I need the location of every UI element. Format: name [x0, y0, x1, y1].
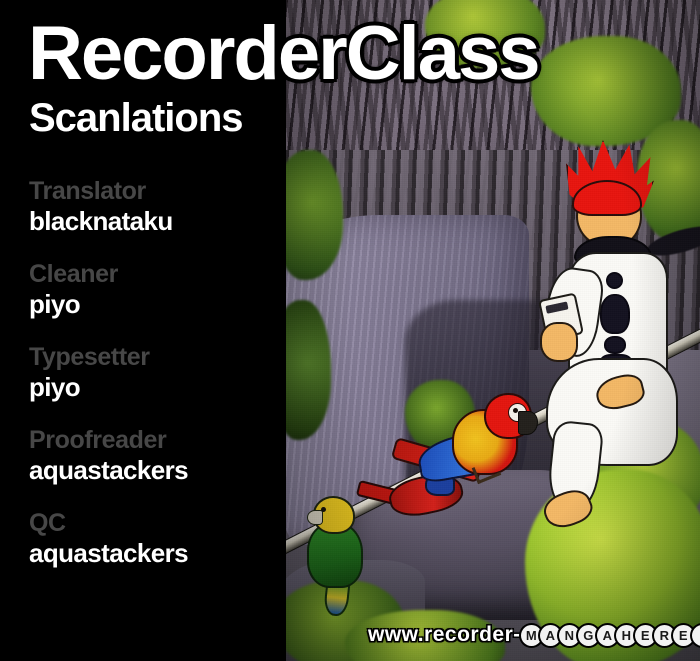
outfit-button [604, 336, 626, 354]
watermark-gear-letter: E [635, 625, 656, 646]
credit-entry: Translator blacknataku [29, 176, 279, 237]
watermark-gear-letter: E [673, 625, 694, 646]
credits-page: RecorderClass Scanlations Translator bla… [0, 0, 700, 661]
credits-list: Translator blacknataku Cleaner piyo Type… [29, 176, 279, 591]
character-hand [540, 322, 578, 362]
cover-artwork [285, 0, 700, 661]
watermark-gear-letter: M [521, 625, 542, 646]
character [528, 140, 700, 540]
watermark: www.recorder- MANGAHERE.COM [368, 622, 700, 648]
credit-role: QC [29, 508, 279, 538]
credit-role: Translator [29, 176, 279, 206]
watermark-url: www.recorder- [368, 623, 521, 647]
credit-entry: Typesetter piyo [29, 342, 279, 403]
outfit-button [600, 294, 630, 334]
watermark-gear-letter: A [597, 625, 618, 646]
credit-role: Proofreader [29, 425, 279, 455]
watermark-gear-letter: A [540, 625, 561, 646]
page-subtitle: Scanlations [29, 96, 243, 140]
credit-entry: Proofreader aquastackers [29, 425, 279, 486]
page-title: RecorderClass [28, 10, 700, 98]
watermark-gear-letter: . [692, 625, 700, 646]
outfit-button [606, 272, 623, 289]
green-parrot-eye [321, 507, 326, 512]
watermark-gear-letter: H [616, 625, 637, 646]
green-parrot-beak [307, 510, 323, 525]
green-parrot [299, 496, 375, 610]
credit-entry: QC aquastackers [29, 508, 279, 569]
credit-person: piyo [29, 372, 279, 403]
watermark-gear-letter: G [578, 625, 599, 646]
foliage-patch [285, 150, 343, 280]
credit-person: aquastackers [29, 455, 279, 486]
credit-role: Cleaner [29, 259, 279, 289]
credit-person: aquastackers [29, 538, 279, 569]
watermark-site-gears: MANGAHERE.COM [523, 625, 700, 646]
watermark-gear-letter: R [654, 625, 675, 646]
credit-person: piyo [29, 289, 279, 320]
credit-person: blacknataku [29, 206, 279, 237]
credit-entry: Cleaner piyo [29, 259, 279, 320]
scarlet-macaw [400, 395, 532, 507]
watermark-gear-letter: N [559, 625, 580, 646]
credit-role: Typesetter [29, 342, 279, 372]
